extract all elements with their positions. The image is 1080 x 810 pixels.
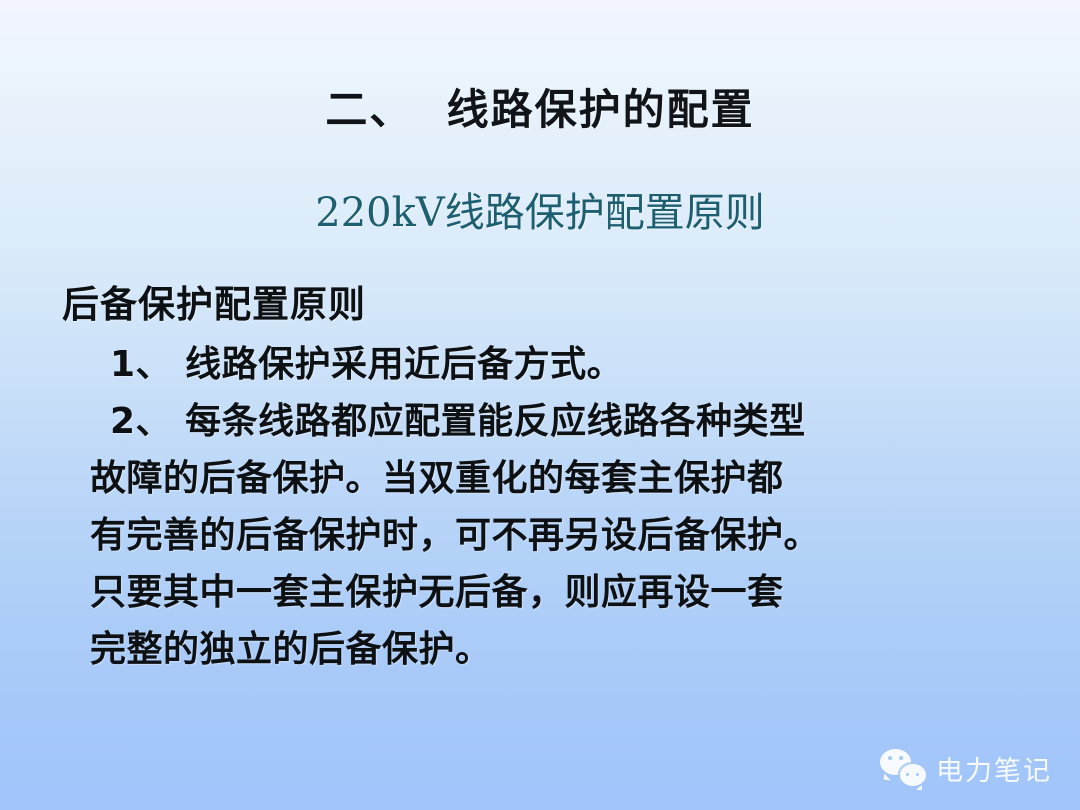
body-line-2: 2、 每条线路都应配置能反应线路各种类型 (62, 393, 1052, 450)
slide-canvas: 二、 线路保护的配置 220kV线路保护配置原则 后备保护配置原则 1、 线路保… (0, 0, 1080, 810)
wechat-dot (899, 756, 903, 760)
page-subtitle: 220kV线路保护配置原则 (0, 180, 1080, 238)
page-title: 二、 线路保护的配置 (0, 76, 1080, 137)
body-line-1: 1、 线路保护采用近后备方式。 (62, 336, 1052, 393)
wechat-dot (906, 773, 910, 777)
body-line-3: 故障的后备保护。当双重化的每套主保护都 (62, 450, 1052, 507)
body-line-5: 只要其中一套主保护无后备，则应再设一套 (62, 564, 1052, 621)
watermark: 电力笔记 (880, 748, 1052, 788)
body-line-4: 有完善的后备保护时，可不再另设后备保护。 (62, 507, 1052, 564)
watermark-label: 电力笔记 (936, 749, 1052, 788)
wechat-dot (888, 756, 892, 760)
body-content: 后备保护配置原则 1、 线路保护采用近后备方式。 2、 每条线路都应配置能反应线… (62, 278, 1052, 678)
wechat-icon (880, 748, 926, 788)
body-line-6: 完整的独立的后备保护。 (62, 621, 1052, 678)
section-heading: 后备保护配置原则 (62, 278, 1052, 332)
wechat-dot (916, 773, 920, 777)
wechat-bubble-small (900, 764, 926, 786)
